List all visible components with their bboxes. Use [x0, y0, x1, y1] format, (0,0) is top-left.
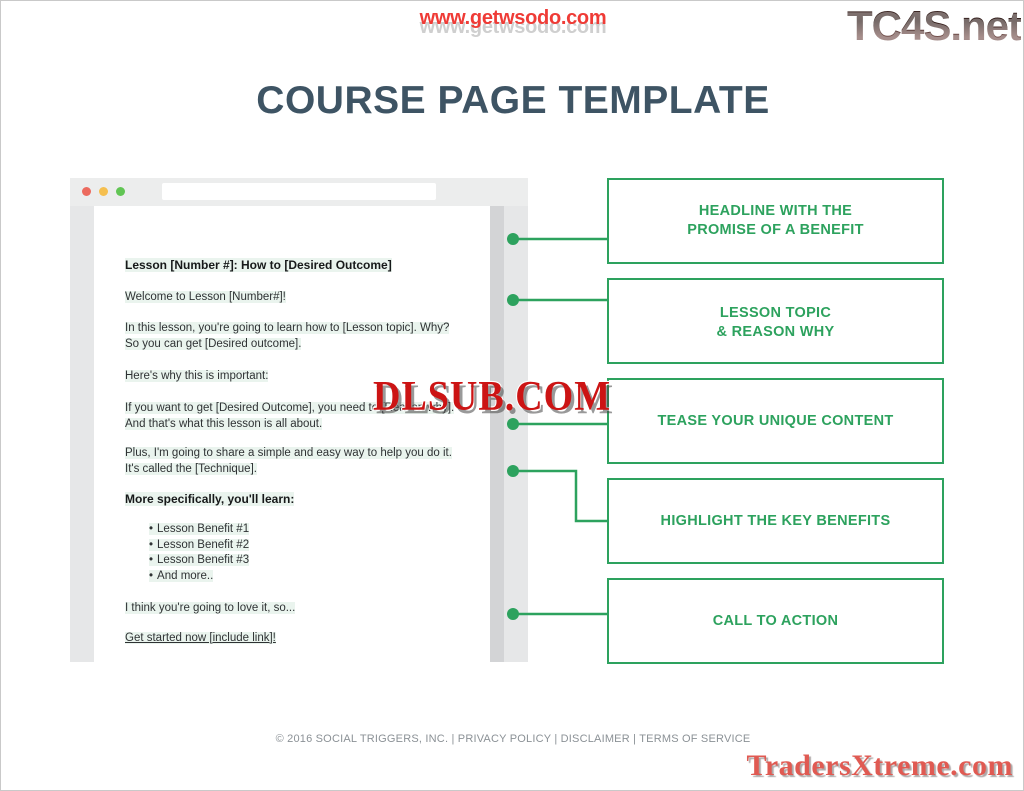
benefits-heading: More specifically, you'll learn:: [125, 492, 294, 508]
tease-line-2: It's called the [Technique].: [125, 462, 257, 477]
cta-link[interactable]: Get started now [include link]!: [125, 631, 276, 646]
close-dot-icon[interactable]: [82, 187, 91, 196]
benefits-list: •Lesson Benefit #1 •Lesson Benefit #2 •L…: [125, 522, 249, 584]
welcome-line: Welcome to Lesson [Number#]!: [125, 290, 286, 305]
annotation-box-headline: HEADLINE WITH THE PROMISE OF A BENEFIT: [607, 178, 944, 264]
annotation-line-2: & REASON WHY: [717, 323, 835, 342]
scrollbar[interactable]: [490, 206, 504, 662]
why-label: Here's why this is important:: [125, 369, 268, 384]
annotation-box-tease-content: TEASE YOUR UNIQUE CONTENT: [607, 378, 944, 464]
tease-line-1: Plus, I'm going to share a simple and ea…: [125, 446, 452, 461]
closing-line: I think you're going to love it, so...: [125, 601, 295, 616]
list-item: •Lesson Benefit #3: [149, 553, 249, 569]
footer-legal-text: © 2016 SOCIAL TRIGGERS, INC. | PRIVACY P…: [1, 733, 1024, 745]
watermark-getwsodo-text: www.getwsodo.com: [420, 7, 607, 29]
list-item-label: Lesson Benefit #1: [157, 523, 249, 535]
intro-line-1: In this lesson, you're going to learn ho…: [125, 321, 449, 336]
minimize-dot-icon[interactable]: [99, 187, 108, 196]
reason-line-2: And that's what this lesson is all about…: [125, 417, 322, 432]
list-item-label: Lesson Benefit #2: [157, 539, 249, 551]
watermark-tc4s: TC4S.net: [847, 2, 1021, 50]
maximize-dot-icon[interactable]: [116, 187, 125, 196]
list-item: •Lesson Benefit #1: [149, 522, 249, 538]
annotation-box-lesson-topic: LESSON TOPIC & REASON WHY: [607, 278, 944, 364]
annotation-line-1: TEASE YOUR UNIQUE CONTENT: [657, 412, 893, 431]
browser-mockup: Lesson [Number #]: How to [Desired Outco…: [70, 178, 528, 662]
annotation-box-key-benefits: HIGHLIGHT THE KEY BENEFITS: [607, 478, 944, 564]
bullet-icon: •: [149, 570, 153, 582]
annotation-line-1: LESSON TOPIC: [717, 304, 835, 323]
annotation-line-1: CALL TO ACTION: [713, 612, 839, 631]
course-page-template-slide: www.getwsodo.com www.getwsodo.com TC4S.n…: [0, 0, 1024, 791]
reason-line-1: If you want to get [Desired Outcome], yo…: [125, 401, 454, 416]
annotation-line-1: HIGHLIGHT THE KEY BENEFITS: [661, 512, 891, 531]
watermark-getwsodo: www.getwsodo.com www.getwsodo.com: [1, 7, 1024, 30]
lesson-heading: Lesson [Number #]: How to [Desired Outco…: [125, 258, 392, 274]
address-bar-input[interactable]: [162, 183, 436, 200]
annotation-box-call-to-action: CALL TO ACTION: [607, 578, 944, 664]
annotation-line-1: HEADLINE WITH THE: [687, 202, 864, 221]
list-item: •Lesson Benefit #2: [149, 538, 249, 554]
bullet-icon: •: [149, 554, 153, 566]
bullet-icon: •: [149, 523, 153, 535]
list-item: •And more..: [149, 569, 249, 585]
list-item-label: And more..: [157, 570, 213, 582]
annotation-line-2: PROMISE OF A BENEFIT: [687, 221, 864, 240]
mock-lesson-page: Lesson [Number #]: How to [Desired Outco…: [94, 206, 504, 662]
bullet-icon: •: [149, 539, 153, 551]
browser-titlebar: [70, 178, 528, 206]
browser-viewport: Lesson [Number #]: How to [Desired Outco…: [70, 206, 528, 662]
intro-line-2: So you can get [Desired outcome].: [125, 337, 301, 352]
list-item-label: Lesson Benefit #3: [157, 554, 249, 566]
page-title: COURSE PAGE TEMPLATE: [1, 79, 1024, 123]
watermark-getwsodo-ghost: www.getwsodo.com: [1, 16, 1024, 39]
watermark-tradersxtreme: TradersXtreme.com: [747, 749, 1013, 783]
